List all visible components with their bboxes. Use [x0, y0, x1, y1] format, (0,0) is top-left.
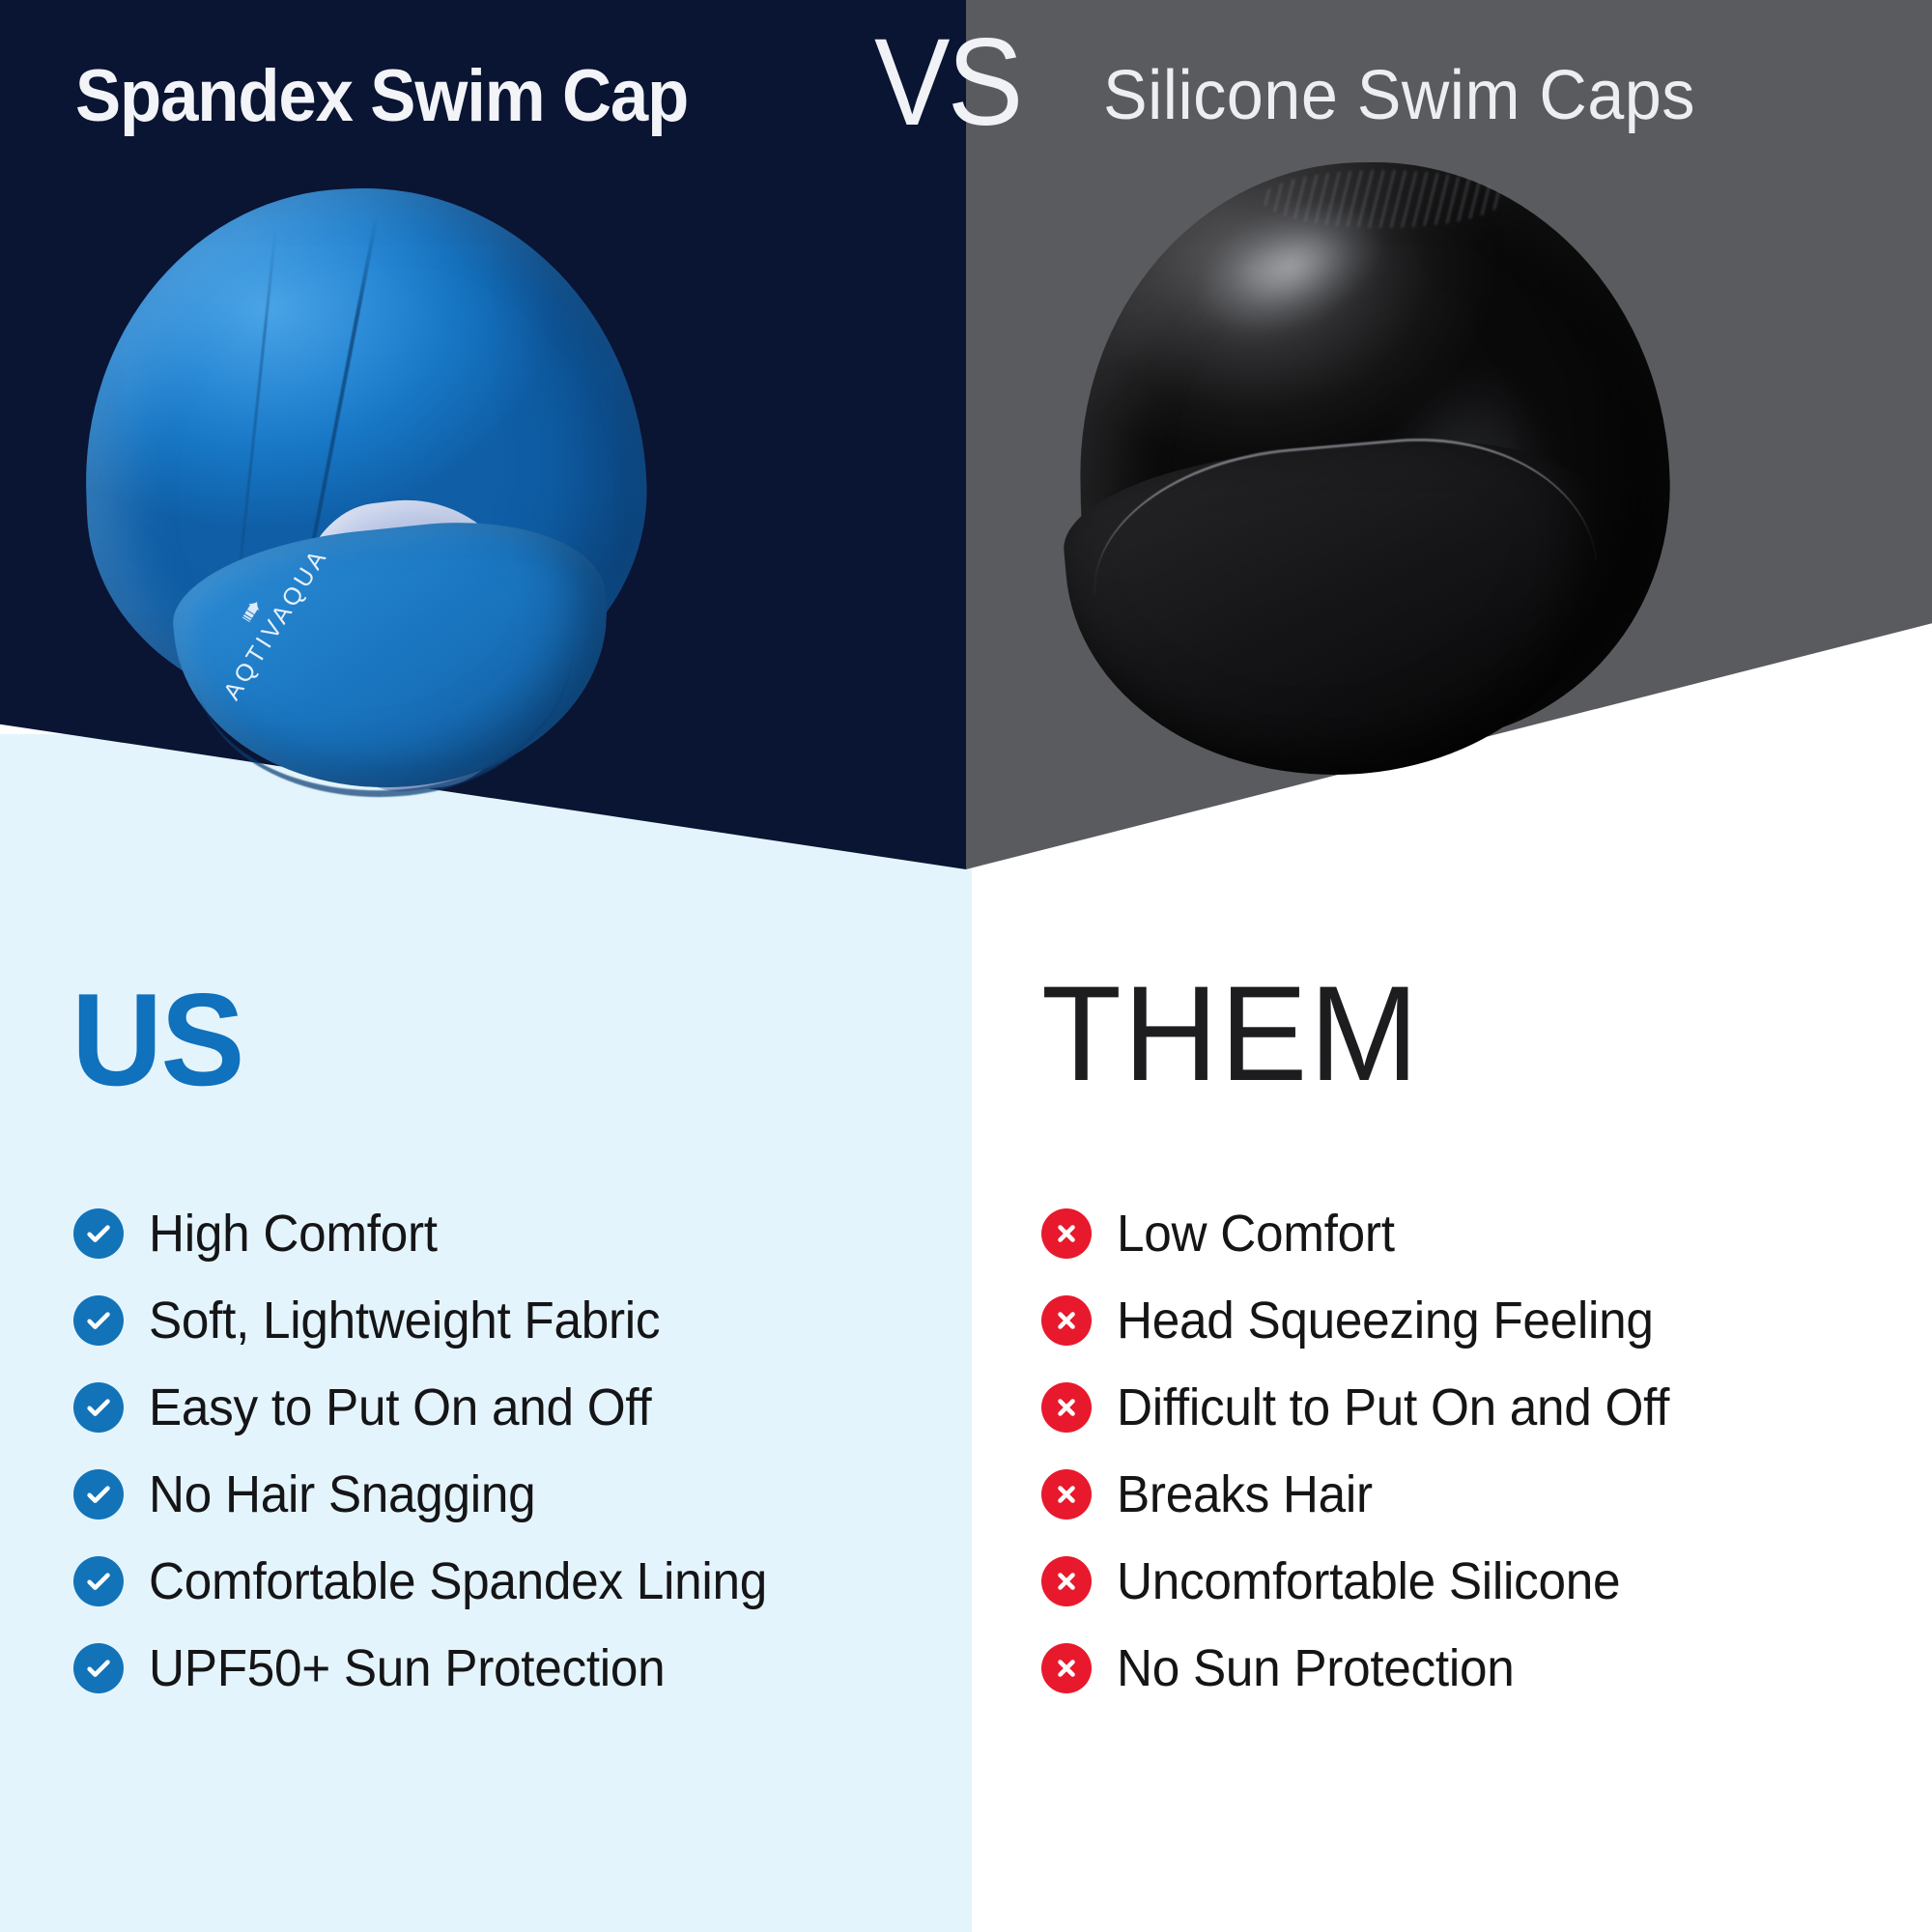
check-circle-icon	[73, 1382, 124, 1433]
vs-divider-label: VS	[874, 21, 1021, 145]
list-item: Difficult to Put On and Off	[1041, 1364, 1911, 1451]
list-item: No Hair Snagging	[73, 1451, 943, 1538]
list-item-label: No Hair Snagging	[149, 1468, 535, 1520]
comparison-infographic: ➠ AQTIVAQUA Spandex Swim Cap VS Silicone…	[0, 0, 1932, 1932]
list-item-label: Soft, Lightweight Fabric	[149, 1294, 660, 1347]
x-circle-icon	[1041, 1469, 1092, 1520]
list-item-label: Low Comfort	[1117, 1207, 1395, 1260]
list-item-label: Uncomfortable Silicone	[1117, 1555, 1620, 1607]
them-heading: THEM	[1041, 966, 1420, 1101]
x-circle-icon	[1041, 1643, 1092, 1693]
spandex-swim-cap-image: ➠ AQTIVAQUA	[85, 188, 645, 758]
list-item: Uncomfortable Silicone	[1041, 1538, 1911, 1625]
x-circle-icon	[1041, 1556, 1092, 1606]
list-item-label: Head Squeezing Feeling	[1117, 1294, 1654, 1347]
list-item-label: High Comfort	[149, 1207, 438, 1260]
left-product-title: Spandex Swim Cap	[75, 54, 688, 138]
list-item: UPF50+ Sun Protection	[73, 1625, 943, 1712]
header-banner: Spandex Swim Cap VS Silicone Swim Caps	[0, 0, 1932, 174]
list-item: Breaks Hair	[1041, 1451, 1911, 1538]
list-item: Low Comfort	[1041, 1190, 1911, 1277]
check-circle-icon	[73, 1469, 124, 1520]
us-heading: US	[71, 974, 243, 1105]
list-item: Comfortable Spandex Lining	[73, 1538, 943, 1625]
list-item-label: UPF50+ Sun Protection	[149, 1642, 665, 1694]
silicone-swim-cap-image	[1080, 162, 1669, 761]
list-item-label: No Sun Protection	[1117, 1642, 1514, 1694]
x-circle-icon	[1041, 1382, 1092, 1433]
right-product-title: Silicone Swim Caps	[1103, 56, 1695, 135]
us-benefits-list: High Comfort Soft, Lightweight Fabric Ea…	[73, 1190, 943, 1712]
list-item: Soft, Lightweight Fabric	[73, 1277, 943, 1364]
x-circle-icon	[1041, 1208, 1092, 1259]
them-drawbacks-list: Low Comfort Head Squeezing Feeling Diffi…	[1041, 1190, 1911, 1712]
list-item: Easy to Put On and Off	[73, 1364, 943, 1451]
list-item: High Comfort	[73, 1190, 943, 1277]
list-item-label: Difficult to Put On and Off	[1117, 1381, 1669, 1434]
check-circle-icon	[73, 1208, 124, 1259]
list-item-label: Easy to Put On and Off	[149, 1381, 651, 1434]
list-item-label: Breaks Hair	[1117, 1468, 1373, 1520]
check-circle-icon	[73, 1556, 124, 1606]
check-circle-icon	[73, 1295, 124, 1346]
x-circle-icon	[1041, 1295, 1092, 1346]
list-item: Head Squeezing Feeling	[1041, 1277, 1911, 1364]
list-item: No Sun Protection	[1041, 1625, 1911, 1712]
check-circle-icon	[73, 1643, 124, 1693]
list-item-label: Comfortable Spandex Lining	[149, 1555, 767, 1607]
